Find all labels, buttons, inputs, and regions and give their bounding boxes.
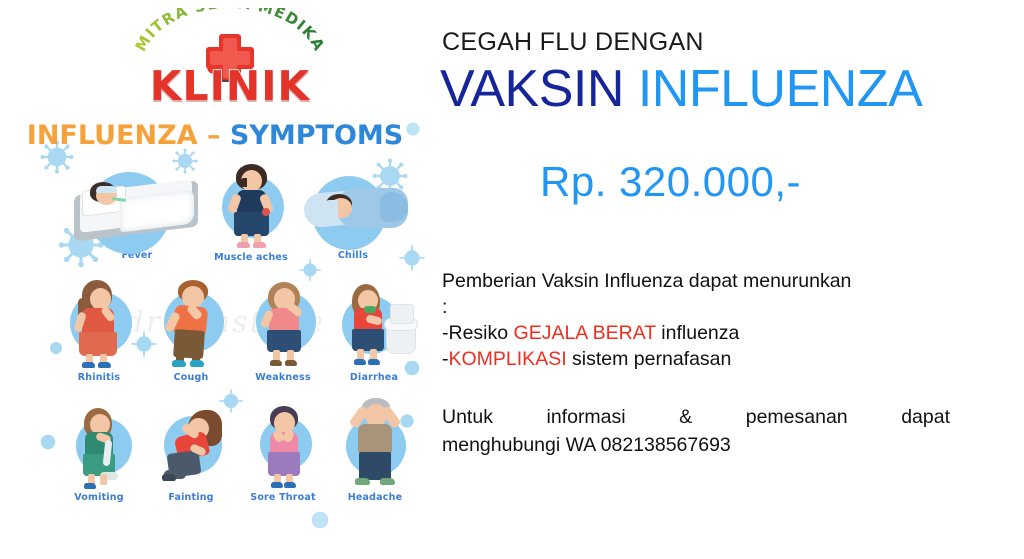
clinic-logo: MITRA SETIA MEDIKA KLINIK xyxy=(130,8,330,113)
contact-line1: Untuk informasi & pemesanan dapat xyxy=(442,404,950,432)
symptom-label: Fainting xyxy=(144,492,238,503)
kicker-text: CEGAH FLU DENGAN xyxy=(442,28,704,57)
bullet2-suffix: sistem pernafasan xyxy=(567,348,732,370)
girl-with-runny-nose xyxy=(52,278,146,370)
girl-holding-throat xyxy=(236,402,330,490)
boy-coughing xyxy=(144,278,238,370)
person-wrapped-in-blanket xyxy=(288,174,418,246)
symptom-cell-fever: Fever xyxy=(62,168,212,261)
symptoms-heading-part1: INFLUENZA xyxy=(27,120,198,151)
contact-block: Untuk informasi & pemesanan dapat menghu… xyxy=(442,404,950,459)
headline-space xyxy=(624,60,638,118)
symptom-label: Chills xyxy=(288,250,418,261)
bullet1-prefix: -Resiko xyxy=(442,322,514,344)
symptom-cell-diarrhea: Diarrhea xyxy=(324,278,424,383)
bullet1-accent: GEJALA BERAT xyxy=(514,322,656,344)
symptom-label: Weakness xyxy=(236,372,330,383)
man-holding-head xyxy=(326,396,424,490)
skirt xyxy=(79,332,117,356)
benefit-bullet-1: -Resiko GEJALA BERAT influenza xyxy=(442,320,982,346)
symptom-cell-chills: Chills xyxy=(288,174,418,261)
woman-fainting-kneeling xyxy=(144,402,238,490)
girl-feeling-weak xyxy=(236,278,330,370)
offer-panel: CEGAH FLU DENGAN VAKSIN INFLUENZA Rp. 32… xyxy=(430,0,1024,559)
symptom-label: Vomiting xyxy=(52,492,146,503)
symptoms-heading-part2: SYMPTOMS xyxy=(230,120,403,151)
symptom-row: Rhinitis Cough xyxy=(0,278,430,386)
bullet1-suffix: influenza xyxy=(656,322,739,344)
bullet2-accent: KOMPLIKASI xyxy=(449,348,567,370)
symptom-cell-vomiting: Vomiting xyxy=(52,402,146,503)
benefit-bullet-2: -KOMPLIKASI sistem pernafasan xyxy=(442,346,982,372)
symptom-cell-sore-throat: Sore Throat xyxy=(236,402,330,503)
benefits-intro-line2: : xyxy=(442,294,982,320)
symptom-label: Sore Throat xyxy=(236,492,330,503)
symptom-cell-weakness: Weakness xyxy=(236,278,330,383)
clinic-logo-wordmark: KLINIK xyxy=(130,66,330,107)
symptoms-infographic-panel: MITRA SETIA MEDIKA KLINIK INFLUENZA – SY… xyxy=(0,0,430,559)
symptom-row: Vomiting Fainting xyxy=(0,402,430,508)
skirt xyxy=(267,330,301,352)
symptom-cell-rhinitis: Rhinitis xyxy=(52,278,146,383)
skirt xyxy=(268,452,300,476)
symptoms-heading: INFLUENZA – SYMPTOMS xyxy=(0,120,430,151)
price-text: Rp. 320.000,- xyxy=(540,158,801,206)
contact-line2: menghubungi WA 082138567693 xyxy=(442,432,950,460)
girl-by-toilet xyxy=(324,278,424,370)
symptom-row: Fever Mus xyxy=(0,168,430,268)
girl-vomiting xyxy=(52,402,146,490)
headline-part-vaksin: VAKSIN xyxy=(440,60,624,118)
headline-part-influenza: INFLUENZA xyxy=(638,60,922,118)
headline: VAKSIN INFLUENZA xyxy=(440,62,922,117)
virus-particle-icon xyxy=(306,506,334,534)
symptom-label: Headache xyxy=(326,492,424,503)
symptom-label: Cough xyxy=(144,372,238,383)
symptom-label: Diarrhea xyxy=(324,372,424,383)
symptom-cell-fainting: Fainting xyxy=(144,402,238,503)
influenza-vaccine-flyer: MITRA SETIA MEDIKA KLINIK INFLUENZA – SY… xyxy=(0,0,1024,559)
symptom-cell-headache: Headache xyxy=(326,396,424,503)
symptom-cell-cough: Cough xyxy=(144,278,238,383)
torso xyxy=(358,424,392,454)
symptom-label: Rhinitis xyxy=(52,372,146,383)
skirt xyxy=(352,329,384,351)
person-lying-in-bed-with-fever xyxy=(62,168,212,246)
benefits-block: Pemberian Vaksin Influenza dapat menurun… xyxy=(442,268,982,373)
symptoms-heading-dash: – xyxy=(198,120,230,151)
benefits-intro-line1: Pemberian Vaksin Influenza dapat menurun… xyxy=(442,268,982,294)
